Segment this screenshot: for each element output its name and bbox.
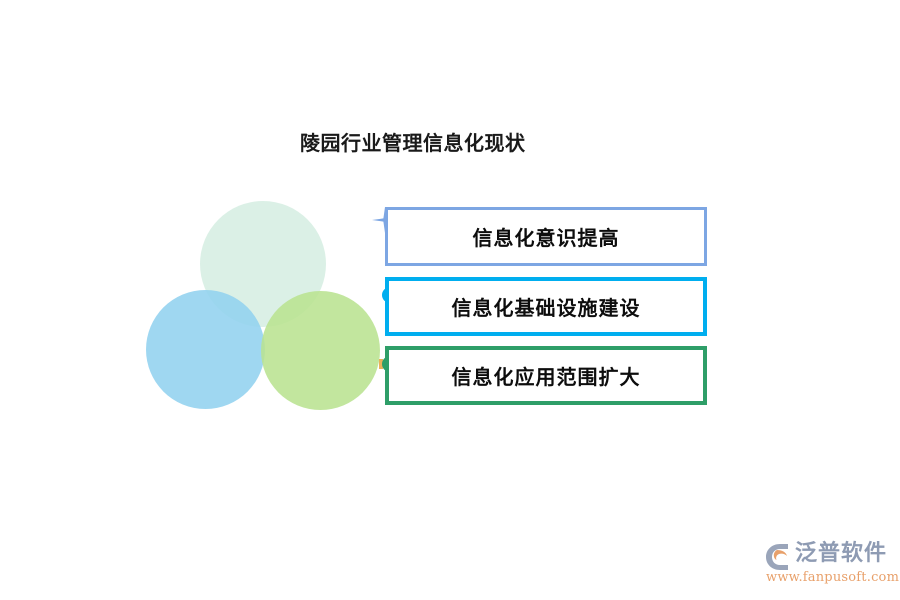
slide-canvas: 陵园行业管理信息化现状 信息化意识提高 信息化基础设施建设 信息化应用范围扩大 <box>0 0 900 600</box>
brand-mark-icon <box>762 542 792 572</box>
item-label-1: 信息化意识提高 <box>473 222 620 251</box>
page-title: 陵园行业管理信息化现状 <box>300 130 526 156</box>
dot-accent-icon-3 <box>379 359 383 369</box>
brand-name: 泛普软件 <box>795 540 887 568</box>
venn-circle-green <box>261 291 380 410</box>
watermark-logo: 泛普软件 www.fanpusoft.com <box>762 538 894 592</box>
item-label-3: 信息化应用范围扩大 <box>452 361 641 390</box>
venn-circle-blue <box>146 290 265 409</box>
item-label-2: 信息化基础设施建设 <box>452 292 641 321</box>
item-box-2[interactable]: 信息化基础设施建设 <box>385 277 707 336</box>
item-box-3[interactable]: 信息化应用范围扩大 <box>385 346 707 405</box>
brand-url: www.fanpusoft.com <box>766 570 899 585</box>
item-box-1[interactable]: 信息化意识提高 <box>385 207 707 266</box>
venn-circle-mint <box>200 201 326 327</box>
